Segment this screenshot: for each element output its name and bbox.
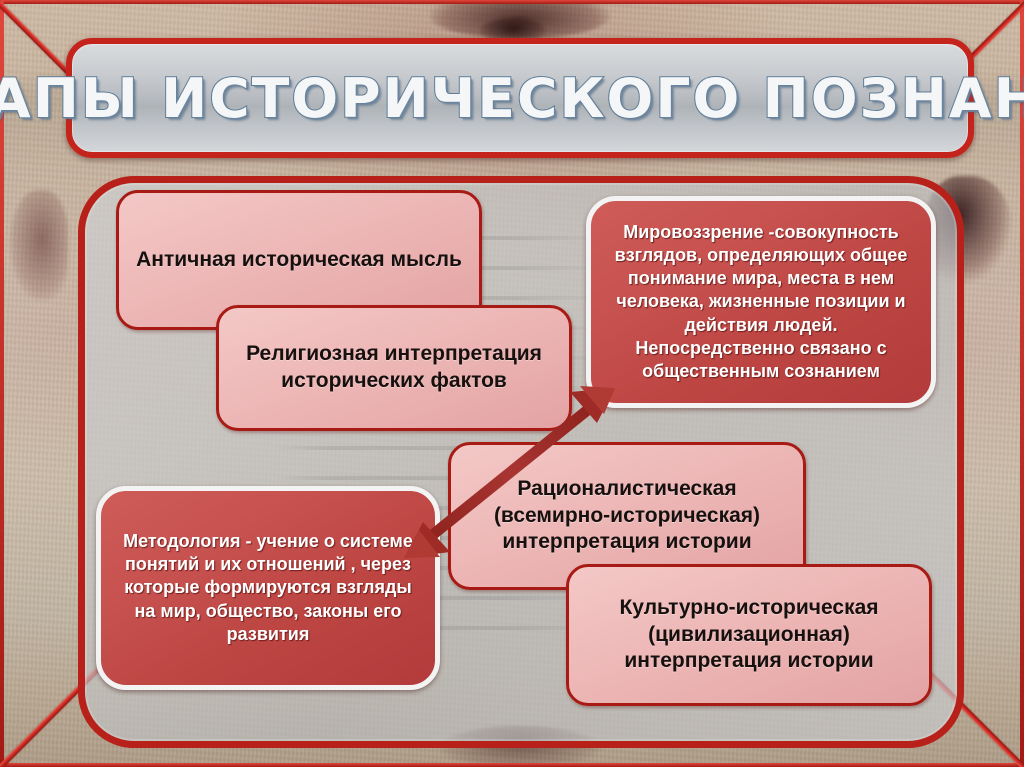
node-rationalistic-interpretation-label: Рационалистическая (всемирно-историческа… — [451, 472, 803, 561]
node-cultural-historical-interpretation[interactable]: Культурно-историческая (цивилизационная)… — [566, 564, 932, 706]
background-blotch-left — [10, 190, 68, 300]
background-blotch-top — [430, 0, 610, 38]
title-plaque: ЭТАПЫ ИСТОРИЧЕСКОГО ПОЗНАНИЯ — [66, 38, 974, 158]
node-religious-interpretation[interactable]: Религиозная интерпретация исторических ф… — [216, 305, 572, 431]
outer-frame-edge-top — [0, 0, 1024, 4]
node-methodology-definition[interactable]: Методология - учение о системе понятий и… — [96, 486, 440, 690]
page-title: ЭТАПЫ ИСТОРИЧЕСКОГО ПОЗНАНИЯ — [0, 67, 1024, 130]
node-worldview-definition[interactable]: Мировоззрение -совокупность взглядов, оп… — [586, 196, 936, 408]
node-methodology-definition-label: Методология - учение о системе понятий и… — [101, 526, 435, 649]
node-religious-interpretation-label: Религиозная интерпретация исторических ф… — [219, 337, 569, 399]
node-worldview-definition-label: Мировоззрение -совокупность взглядов, оп… — [591, 217, 931, 386]
outer-frame-edge-bottom — [0, 763, 1024, 767]
slide-canvas: ЭТАПЫ ИСТОРИЧЕСКОГО ПОЗНАНИЯ Античная ис… — [0, 0, 1024, 767]
node-cultural-historical-interpretation-label: Культурно-историческая (цивилизационная)… — [569, 591, 929, 680]
node-antique-historical-thought-label: Античная историческая мысль — [122, 243, 476, 278]
